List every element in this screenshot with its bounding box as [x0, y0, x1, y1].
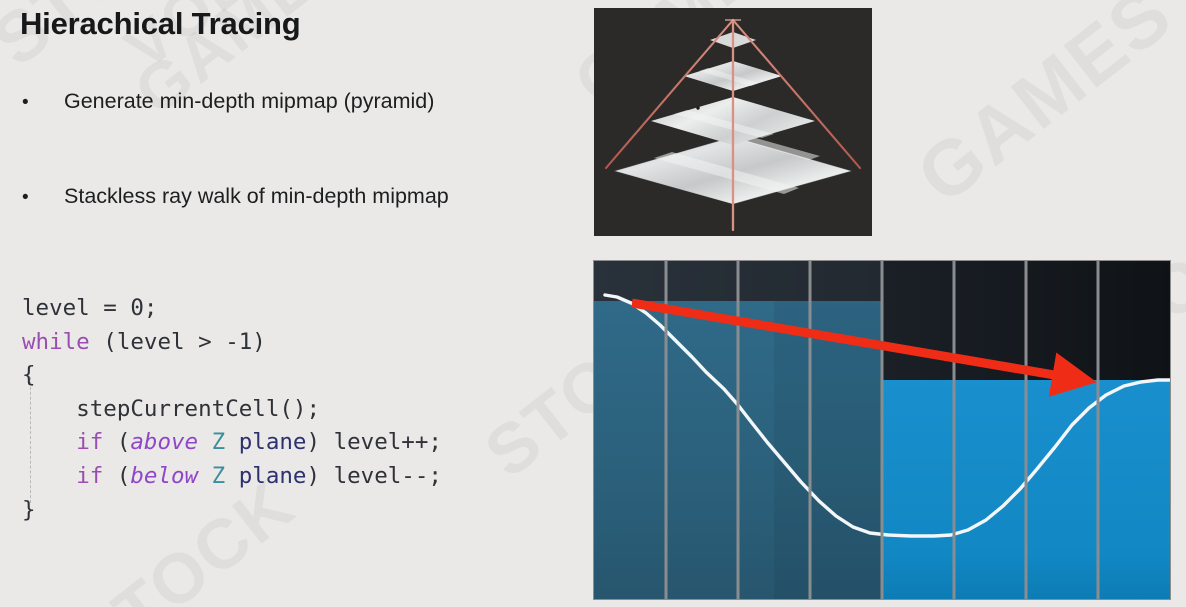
- code-token: ;: [144, 295, 158, 321]
- code-token: Z: [212, 429, 226, 455]
- page-title: Hierachical Tracing: [20, 6, 301, 42]
- code-token: =: [90, 295, 131, 321]
- code-token: [198, 429, 212, 455]
- ray-label: ray: [594, 599, 595, 600]
- code-token: Z: [212, 463, 226, 489]
- code-token: [225, 429, 239, 455]
- code-token: }: [22, 497, 36, 523]
- code-token: if: [76, 429, 103, 455]
- mipmap-pyramid-image: [594, 8, 872, 236]
- slide-root: STOCK VOLAJOS GAMES GAMES GAMES STOCK ST…: [0, 0, 1186, 607]
- code-token: 0: [130, 295, 144, 321]
- sample-point-dot: [696, 106, 699, 109]
- code-token: plane: [239, 463, 307, 489]
- code-token: level: [22, 295, 90, 321]
- watermark-text: GAMES: [900, 0, 1186, 222]
- min-depth-chart: min-depth mipmap ray walk ray: [593, 260, 1171, 600]
- code-token: below: [130, 463, 198, 489]
- code-token: if: [76, 463, 103, 489]
- code-token: (: [103, 429, 130, 455]
- code-line: while (level > -1): [22, 326, 442, 360]
- code-indent: [22, 396, 76, 422]
- code-token: ) level++;: [306, 429, 441, 455]
- code-token: plane: [239, 429, 307, 455]
- code-token: (: [103, 463, 130, 489]
- code-line: }: [22, 494, 442, 528]
- code-token: above: [130, 429, 198, 455]
- code-block: level = 0;while (level > -1){ stepCurren…: [22, 292, 442, 527]
- code-indent: [22, 429, 76, 455]
- pyramid-svg: [594, 8, 872, 236]
- bullet-text: Stackless ray walk of min-depth mipmap: [64, 184, 449, 208]
- code-line: if (below Z plane) level--;: [22, 460, 442, 494]
- code-token: ) level--;: [306, 463, 441, 489]
- code-line: if (above Z plane) level++;: [22, 426, 442, 460]
- code-token: stepCurrentCell();: [76, 396, 320, 422]
- code-line: stepCurrentCell();: [22, 393, 442, 427]
- chart-title: min-depth mipmap ray walk: [594, 599, 595, 600]
- code-token: [198, 463, 212, 489]
- bullet-item: •Stackless ray walk of min-depth mipmap: [22, 184, 449, 209]
- code-indent: [22, 463, 76, 489]
- code-token: (level > -1): [90, 329, 266, 355]
- code-line: level = 0;: [22, 292, 442, 326]
- code-token: [225, 463, 239, 489]
- bullet-marker: •: [22, 187, 64, 209]
- code-token: while: [22, 329, 90, 355]
- bullet-item: •Generate min-depth mipmap (pyramid): [22, 89, 434, 114]
- code-token: {: [22, 362, 36, 388]
- depth-chart-svg: [594, 261, 1170, 599]
- bullet-marker: •: [22, 92, 64, 114]
- bullet-text: Generate min-depth mipmap (pyramid): [64, 89, 434, 113]
- code-line: {: [22, 359, 442, 393]
